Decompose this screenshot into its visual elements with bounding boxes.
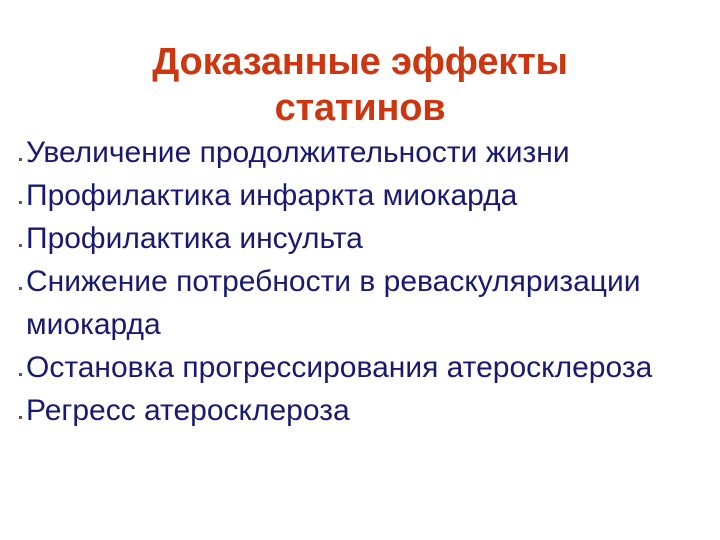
bullet-list: Увеличение продолжительности жизни Профи…	[16, 131, 716, 432]
bullet-item-text: Регресс атеросклероза	[26, 389, 716, 432]
bullet-item-text: Остановка прогрессирования атеросклероза	[26, 346, 716, 389]
bullet-list-item: Остановка прогрессирования атеросклероза	[16, 346, 716, 389]
slide-title: Доказанные эффекты статинов	[40, 39, 680, 131]
presentation-slide: Доказанные эффекты статинов Увеличение п…	[0, 0, 720, 540]
square-bullet-icon	[19, 373, 22, 376]
bullet-item-text: Профилактика инфаркта миокарда	[26, 174, 716, 217]
square-bullet-icon	[19, 158, 22, 161]
bullet-list-item: Регресс атеросклероза	[16, 389, 716, 432]
bullet-list-item: Профилактика инфаркта миокарда	[16, 174, 716, 217]
square-bullet-icon	[19, 244, 22, 247]
bullet-list-item: Снижение потребности в реваскуляризации …	[16, 260, 716, 346]
bullet-list-item: Увеличение продолжительности жизни	[16, 131, 716, 174]
square-bullet-icon	[19, 416, 22, 419]
square-bullet-icon	[19, 287, 22, 290]
square-bullet-icon	[19, 201, 22, 204]
bullet-item-text: Профилактика инсульта	[26, 217, 716, 260]
bullet-item-text: Увеличение продолжительности жизни	[26, 131, 716, 174]
bullet-item-text: Снижение потребности в реваскуляризации …	[26, 260, 716, 346]
bullet-list-item: Профилактика инсульта	[16, 217, 716, 260]
